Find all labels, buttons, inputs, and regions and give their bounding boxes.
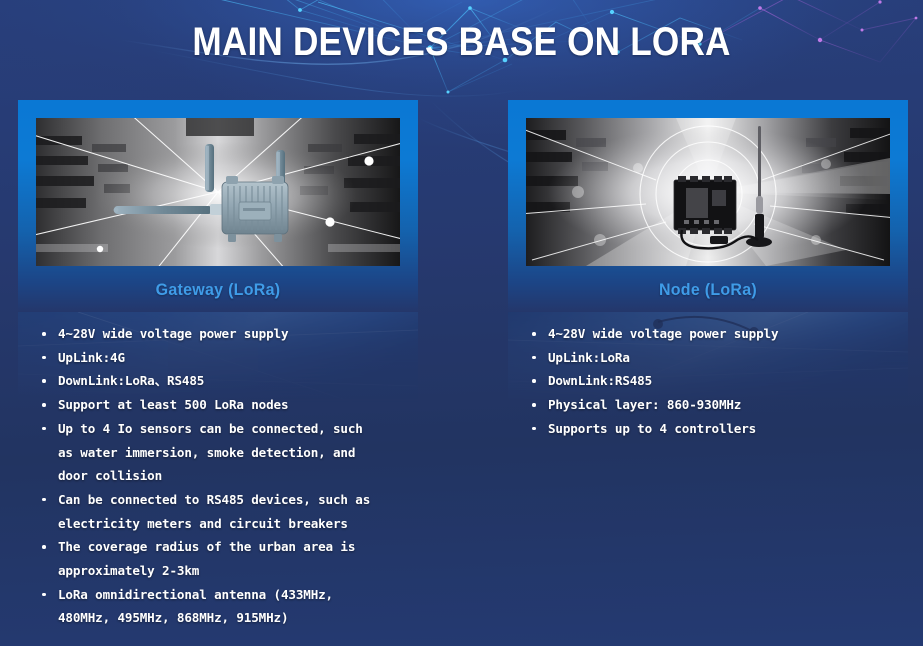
- node-photo: [526, 118, 890, 266]
- list-item-label: The coverage radius of the urban area is…: [58, 535, 436, 582]
- list-item: UpLink:LoRa: [526, 346, 923, 370]
- list-item: The coverage radius of the urban area is…: [36, 535, 436, 582]
- list-item-label: Up to 4 Io sensors can be connected, suc…: [58, 417, 436, 488]
- list-item: 4~28V wide voltage power supply: [526, 322, 923, 346]
- list-item: LoRa omnidirectional antenna (433MHz, 48…: [36, 583, 436, 630]
- list-item: UpLink:4G: [36, 346, 436, 370]
- list-item-label: UpLink:4G: [58, 346, 436, 370]
- list-item-label: Can be connected to RS485 devices, such …: [58, 488, 436, 535]
- list-item-label: DownLink:LoRa、RS485: [58, 369, 436, 393]
- gateway-spec-list: 4~28V wide voltage power supplyUpLink:4G…: [36, 322, 436, 630]
- node-caption: Node (LoRa): [537, 280, 879, 300]
- list-item-label: LoRa omnidirectional antenna (433MHz, 48…: [58, 583, 436, 630]
- page-title: MAIN DEVICES BASE ON LORA: [55, 20, 867, 65]
- node-spec-list: 4~28V wide voltage power supplyUpLink:Lo…: [526, 322, 923, 441]
- list-item-label: Support at least 500 LoRa nodes: [58, 393, 436, 417]
- list-item-label: Supports up to 4 controllers: [548, 417, 923, 441]
- gateway-photo: [36, 118, 400, 266]
- device-card-node[interactable]: Node (LoRa): [508, 100, 908, 312]
- list-item: Physical layer: 860-930MHz: [526, 393, 923, 417]
- list-item: DownLink:LoRa、RS485: [36, 369, 436, 393]
- list-item: 4~28V wide voltage power supply: [36, 322, 436, 346]
- list-item: DownLink:RS485: [526, 369, 923, 393]
- list-item-label: UpLink:LoRa: [548, 346, 923, 370]
- device-card-gateway[interactable]: Gateway (LoRa): [18, 100, 418, 312]
- list-item-label: 4~28V wide voltage power supply: [548, 322, 923, 346]
- list-item: Can be connected to RS485 devices, such …: [36, 488, 436, 535]
- list-item: Support at least 500 LoRa nodes: [36, 393, 436, 417]
- gateway-caption: Gateway (LoRa): [47, 280, 389, 300]
- list-item: Supports up to 4 controllers: [526, 417, 923, 441]
- list-item-label: 4~28V wide voltage power supply: [58, 322, 436, 346]
- list-item: Up to 4 Io sensors can be connected, suc…: [36, 417, 436, 488]
- list-item-label: DownLink:RS485: [548, 369, 923, 393]
- list-item-label: Physical layer: 860-930MHz: [548, 393, 923, 417]
